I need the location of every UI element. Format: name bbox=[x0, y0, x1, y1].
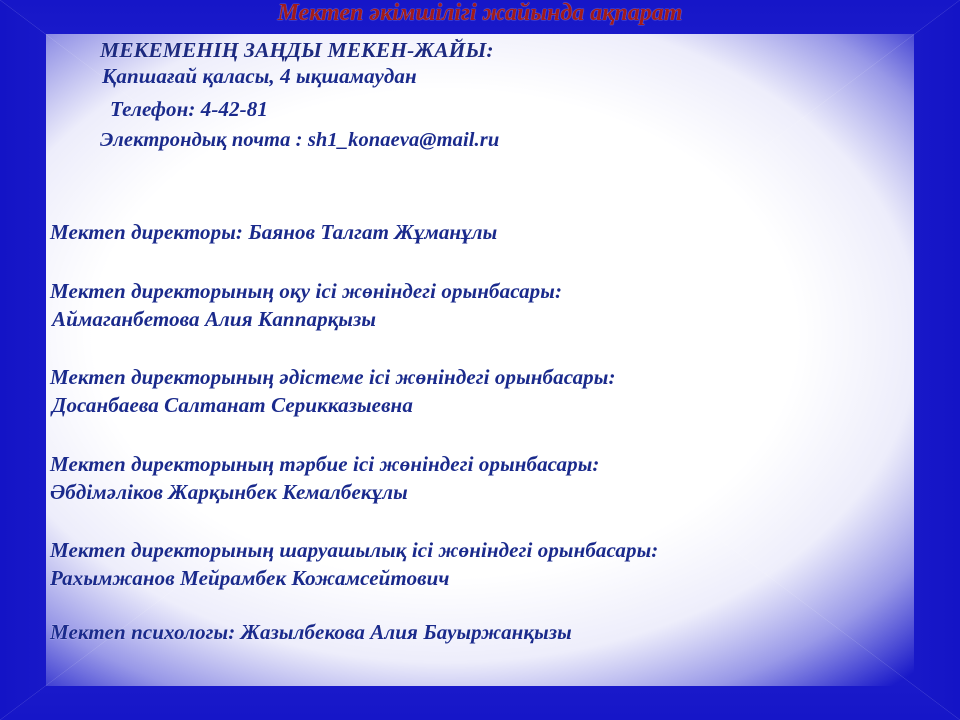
address-heading: МЕКЕМЕНІҢ ЗАҢДЫ МЕКЕН-ЖАЙЫ: bbox=[100, 38, 494, 63]
staff-deputy-academic-role: Мектеп директорының оқу ісі жөніндегі ор… bbox=[50, 279, 562, 304]
staff-deputy-economy-name: Рахымжанов Мейрамбек Кожамсейтович bbox=[50, 566, 450, 591]
staff-deputy-methodology-name: Досанбаева Салтанат Серикказыевна bbox=[52, 393, 413, 418]
presentation-slide: МЕКЕМЕНІҢ ЗАҢДЫ МЕКЕН-ЖАЙЫ: Қапшағай қал… bbox=[0, 0, 960, 720]
address-phone-line: Телефон: 4-42-81 bbox=[110, 97, 268, 122]
staff-deputy-methodology-role: Мектеп директорының әдістеме ісі жөнінде… bbox=[50, 365, 616, 390]
staff-deputy-education-name: Әбдімәліков Жарқынбек Кемалбекұлы bbox=[50, 480, 408, 505]
page-title: Мектеп әкімшілігі жайында ақпарат bbox=[0, 0, 960, 27]
staff-deputy-education-role: Мектеп директорының тәрбие ісі жөніндегі… bbox=[50, 452, 600, 477]
staff-director-role: Мектеп директоры: Баянов Талгат Жұманұлы bbox=[50, 220, 497, 245]
staff-deputy-economy-role: Мектеп директорының шаруашылық ісі жөнін… bbox=[50, 538, 658, 563]
address-city-line: Қапшағай қаласы, 4 ықшамаудан bbox=[102, 64, 417, 89]
staff-psychologist-role: Мектеп психологы: Жазылбекова Алия Бауыр… bbox=[50, 620, 572, 645]
address-email-line: Электрондық почта : sh1_konaeva@mail.ru bbox=[100, 129, 499, 152]
slide-content: МЕКЕМЕНІҢ ЗАҢДЫ МЕКЕН-ЖАЙЫ: Қапшағай қал… bbox=[0, 0, 960, 720]
staff-deputy-academic-name: Аймаганбетова Алия Каппарқызы bbox=[52, 307, 376, 332]
